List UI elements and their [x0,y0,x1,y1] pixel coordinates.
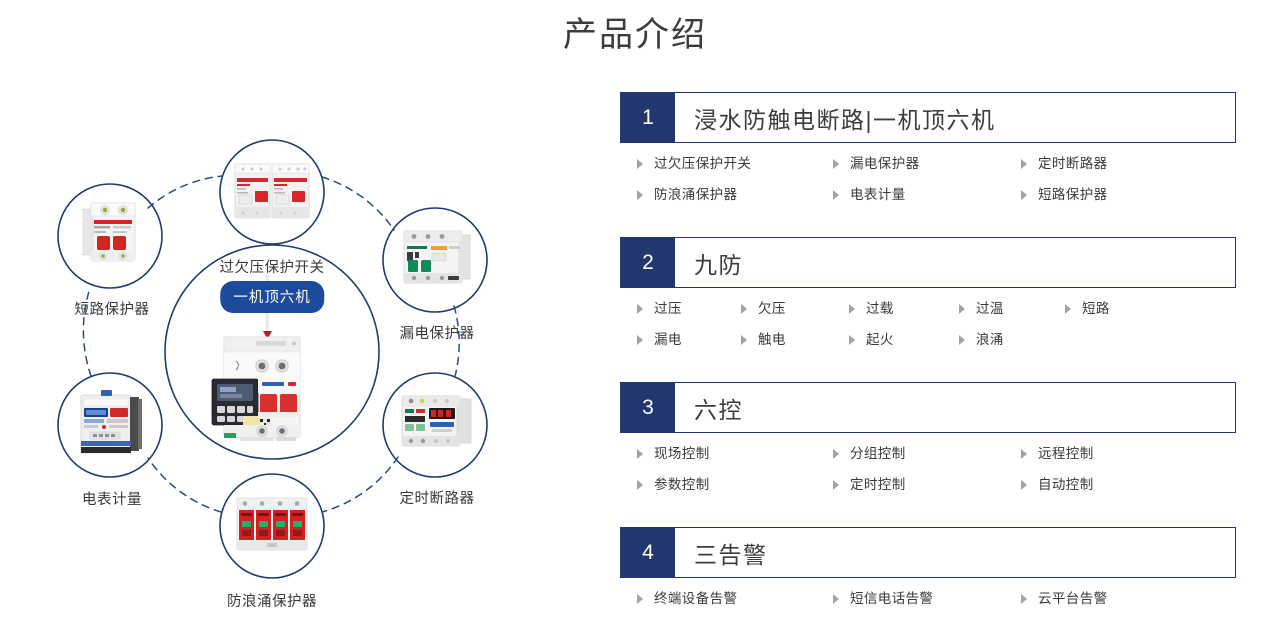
list-item[interactable]: 防浪涌保护器 [637,184,833,206]
list-item[interactable]: 短信电话告警 [833,588,1021,610]
triangle-right-icon [1021,480,1027,490]
list-item[interactable]: 云平台告警 [1021,588,1236,610]
triangle-right-icon [1065,304,1071,314]
triangle-right-icon [637,159,643,169]
triangle-right-icon [637,304,643,314]
list-item[interactable]: 漏电保护器 [833,153,1021,175]
list-item[interactable]: 远程控制 [1021,443,1236,465]
node-label-electricity-meter: 电表计量 [82,488,142,509]
triangle-right-icon [637,594,643,604]
list-item[interactable]: 定时控制 [833,474,1021,496]
short-circuit-protector-icon [77,199,147,265]
connector-top-tr [322,177,394,230]
list-item-label: 起火 [866,329,894,351]
triangle-right-icon [1021,190,1027,200]
center-badge: 一机顶六机 [220,281,324,313]
list-item[interactable]: 分组控制 [833,443,1021,465]
triangle-right-icon [959,335,965,345]
list-item[interactable]: 漏电 [637,329,741,351]
section-1: 1 浸水防触电断路|一机顶六机 过欠压保护开关 漏电保护器 定时断路器 防浪涌保… [620,92,1236,206]
triangle-right-icon [959,304,965,314]
triangle-right-icon [1021,159,1027,169]
list-item-label: 触电 [758,329,786,351]
triangle-right-icon [637,480,643,490]
list-item-label: 过温 [976,298,1004,320]
list-item-label: 漏电保护器 [850,153,920,175]
node-label-surge-protector: 防浪涌保护器 [227,590,317,611]
section-2: 2 九防 过压 欠压 过载 过温 短路 [620,237,1236,351]
connector-tl-top [148,176,222,208]
section-4: 4 三告警 终端设备告警 短信电话告警 云平台告警 [620,527,1236,610]
section-4-header[interactable]: 4 三告警 [620,527,1236,578]
leakage-protector-icon [401,227,473,287]
connector-bottom-bl [148,458,221,512]
list-item-label: 过欠压保护开关 [654,153,751,175]
section-2-title: 九防 [675,238,1235,287]
connector-br-bottom [322,457,398,512]
list-item-label: 过载 [866,298,894,320]
list-item[interactable]: 过载 [849,298,959,320]
triangle-right-icon [849,304,855,314]
node-label-short-circuit-protector: 短路保护器 [75,298,150,319]
list-item[interactable]: 定时断路器 [1021,153,1236,175]
list-item-label: 电表计量 [850,184,906,206]
list-item-label: 终端设备告警 [654,588,737,610]
list-item[interactable]: 参数控制 [637,474,833,496]
list-item-label: 漏电 [654,329,682,351]
triangle-right-icon [833,159,839,169]
connector-tr-br [454,306,459,380]
section-3-header[interactable]: 3 六控 [620,382,1236,433]
list-item[interactable]: 触电 [741,329,849,351]
list-item-label: 自动控制 [1038,474,1094,496]
electricity-meter-icon [77,389,147,457]
list-item-label: 短信电话告警 [850,588,933,610]
triangle-right-icon [833,594,839,604]
section-3-number: 3 [621,383,675,432]
list-item-label: 定时断路器 [1038,153,1108,175]
list-item[interactable]: 自动控制 [1021,474,1236,496]
list-item[interactable]: 过压 [637,298,741,320]
list-item-label: 短路 [1082,298,1110,320]
list-item[interactable]: 短路保护器 [1021,184,1236,206]
list-item[interactable]: 电表计量 [833,184,1021,206]
list-item-label: 分组控制 [850,443,906,465]
section-1-feature-list: 过欠压保护开关 漏电保护器 定时断路器 防浪涌保护器 电表计量 短路保护器 [620,153,1236,206]
list-item-label: 现场控制 [654,443,710,465]
over-under-voltage-protector-icon [233,161,311,221]
triangle-right-icon [833,449,839,459]
section-2-number: 2 [621,238,675,287]
triangle-right-icon [637,190,643,200]
node-label-over-under-voltage: 过欠压保护开关 [220,256,325,277]
section-1-header[interactable]: 1 浸水防触电断路|一机顶六机 [620,92,1236,143]
list-item-label: 短路保护器 [1038,184,1108,206]
triangle-right-icon [849,335,855,345]
triangle-right-icon [741,335,747,345]
triangle-right-icon [637,449,643,459]
product-ecosystem-diagram: 过欠压保护开关 漏电保护器 [0,60,560,637]
section-4-title: 三告警 [675,528,1235,577]
section-4-number: 4 [621,528,675,577]
surge-protector-icon [235,494,309,554]
list-item[interactable]: 短路 [1065,298,1236,320]
node-label-timer-breaker: 定时断路器 [400,487,475,508]
list-item-label: 远程控制 [1038,443,1094,465]
list-item[interactable]: 终端设备告警 [637,588,833,610]
page-title: 产品介绍 [563,7,707,56]
section-3-title: 六控 [675,383,1235,432]
list-item[interactable]: 浪涌 [959,329,1065,351]
section-3-feature-list: 现场控制 分组控制 远程控制 参数控制 定时控制 自动控制 [620,443,1236,496]
triangle-right-icon [637,335,643,345]
section-4-feature-list: 终端设备告警 短信电话告警 云平台告警 [620,588,1236,610]
list-item-label: 过压 [654,298,682,320]
section-2-feature-list: 过压 欠压 过载 过温 短路 漏电 [620,298,1236,351]
triangle-right-icon [833,190,839,200]
list-item-label: 参数控制 [654,474,710,496]
section-1-title: 浸水防触电断路|一机顶六机 [675,93,1235,142]
triangle-right-icon [1021,449,1027,459]
list-item-label: 欠压 [758,298,786,320]
section-2-header[interactable]: 2 九防 [620,237,1236,288]
section-3: 3 六控 现场控制 分组控制 远程控制 参数控制 定时控制 [620,382,1236,496]
list-item[interactable]: 过温 [959,298,1065,320]
product-intro-panel: 产品介绍 1 浸水防触电断路|一机顶六机 过欠压保护开关 漏电保护器 定时断路器… [563,0,1283,637]
list-item[interactable]: 欠压 [741,298,849,320]
list-item-label: 防浪涌保护器 [654,184,737,206]
list-item[interactable]: 起火 [849,329,959,351]
triangle-right-icon [741,304,747,314]
list-item-label: 定时控制 [850,474,906,496]
timer-breaker-icon [399,392,475,450]
triangle-right-icon [833,480,839,490]
list-item-label: 云平台告警 [1038,588,1108,610]
section-1-number: 1 [621,93,675,142]
list-item-label: 浪涌 [976,329,1004,351]
list-item[interactable]: 过欠压保护开关 [637,153,833,175]
node-label-leakage-protector: 漏电保护器 [400,322,475,343]
triangle-right-icon [1021,594,1027,604]
list-item[interactable]: 现场控制 [637,443,833,465]
